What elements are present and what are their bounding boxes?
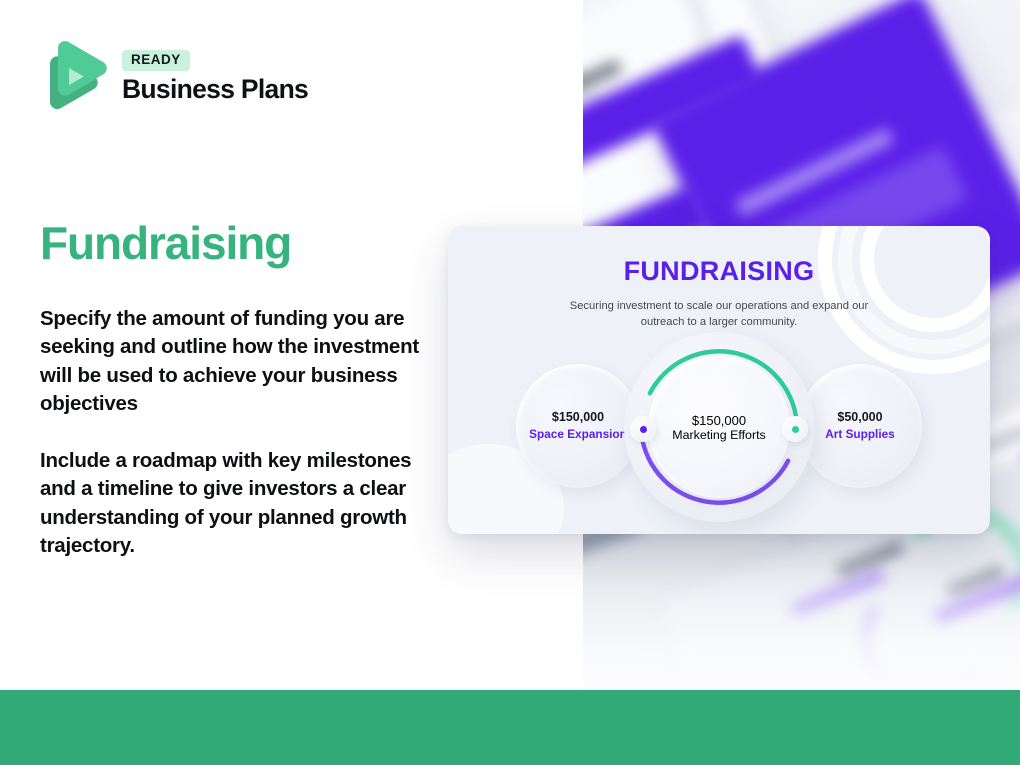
description-paragraph-2: Include a roadmap with key milestones an… [40, 447, 420, 560]
description-paragraph-1: Specify the amount of funding you are se… [40, 305, 420, 418]
funding-amount: $50,000 [837, 410, 882, 426]
brand-name: Business Plans [122, 75, 308, 104]
brand-logo: READY Business Plans [40, 40, 308, 112]
funding-amount: $150,000 [692, 413, 746, 428]
slide-preview-card[interactable]: FUNDRAISING Securing investment to scale… [448, 226, 990, 534]
funding-label: Marketing Efforts [672, 428, 765, 442]
funding-node-space-expansion[interactable]: $150,000 Space Expansion [516, 364, 640, 488]
description-block: Specify the amount of funding you are se… [40, 305, 420, 560]
slide-page: READY Business Plans Fundraising Specify… [0, 0, 1020, 765]
play-triangle-logo-icon [40, 40, 108, 112]
brand-text: READY Business Plans [122, 48, 308, 104]
funding-node-art-supplies[interactable]: $50,000 Art Supplies [798, 364, 922, 488]
center-node-inner: $150,000 Marketing Efforts [648, 356, 790, 498]
right-connector-dot [782, 416, 808, 442]
funding-label: Space Expansion [529, 427, 627, 442]
funding-amount: $150,000 [552, 410, 604, 426]
background-fade-overlay [583, 540, 1020, 690]
page-title: Fundraising [40, 218, 291, 269]
slide-subtitle: Securing investment to scale our operati… [554, 299, 884, 331]
slide-title: FUNDRAISING [448, 256, 990, 287]
footer-bar [0, 690, 1020, 765]
left-connector-dot [630, 416, 656, 442]
ready-badge: READY [122, 50, 190, 71]
funding-label: Art Supplies [825, 427, 894, 442]
funding-diagram: $150,000 Space Expansion $50,000 Art Sup… [448, 344, 990, 514]
